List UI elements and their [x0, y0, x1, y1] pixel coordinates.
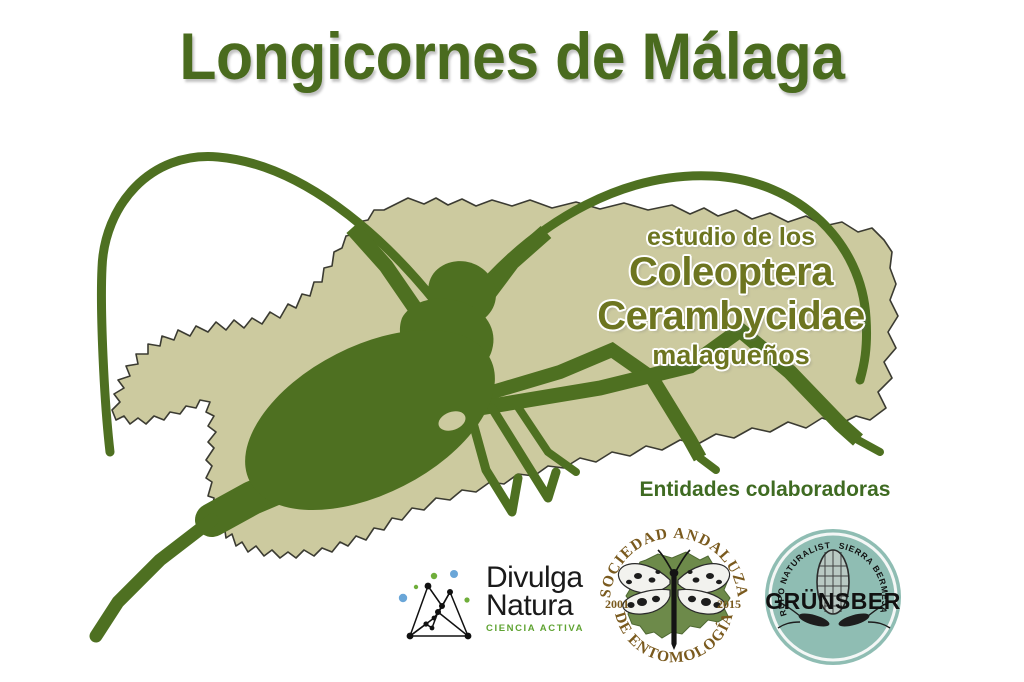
- subject-text-block: estudio de los Coleoptera Cerambycidae m…: [556, 224, 906, 369]
- subject-line-1: estudio de los: [556, 224, 906, 250]
- poster-canvas: Longicornes de Málaga estudio de los Col…: [0, 0, 1024, 682]
- dot-green-3: [464, 597, 469, 602]
- subject-line-malaguenos: malagueños: [556, 341, 906, 369]
- logo-sociedad-andaluza-entomologia[interactable]: SOCIEDAD ANDALUZA DE ENTOMOLOGÍA 2001 20…: [596, 516, 752, 672]
- subject-line-cerambycidae: Cerambycidae: [556, 296, 906, 338]
- divulga-natura-wordmark: Divulga Natura CIENCIA ACTIVA: [486, 564, 596, 634]
- divulga-natura-line-2: Natura: [486, 592, 596, 620]
- divulga-natura-tagline: CIENCIA ACTIVA: [486, 623, 596, 634]
- grunsber-wordmark: GRÜNSBER: [762, 588, 904, 615]
- dot-green-1: [431, 573, 437, 579]
- dot-blue-2: [399, 594, 407, 602]
- dot-green-2: [414, 585, 418, 589]
- subject-line-coleoptera: Coleoptera: [556, 252, 906, 294]
- dot-blue-1: [450, 570, 458, 578]
- butterfly-over-andalusia-icon: SOCIEDAD ANDALUZA DE ENTOMOLOGÍA 2001 20…: [596, 516, 752, 672]
- logo-divulga-natura[interactable]: Divulga Natura CIENCIA ACTIVA: [398, 562, 588, 648]
- beetle-mid-right-tarsus: [700, 458, 716, 470]
- divulga-natura-line-1: Divulga: [486, 564, 596, 592]
- logo-grunsber[interactable]: GRUPO NATURALISTA SIERRA BERMEJA GRÜNSBE…: [762, 526, 904, 668]
- beetle-hind-left-tibia: [96, 520, 212, 636]
- beetle-hind-right-tarsus: [858, 440, 880, 452]
- sae-year-left: 2001: [605, 597, 629, 611]
- poster-title: Longicornes de Málaga: [41, 18, 983, 94]
- collaborators-heading: Entidades colaboradoras: [600, 478, 930, 502]
- sae-year-right: 2015: [717, 597, 741, 611]
